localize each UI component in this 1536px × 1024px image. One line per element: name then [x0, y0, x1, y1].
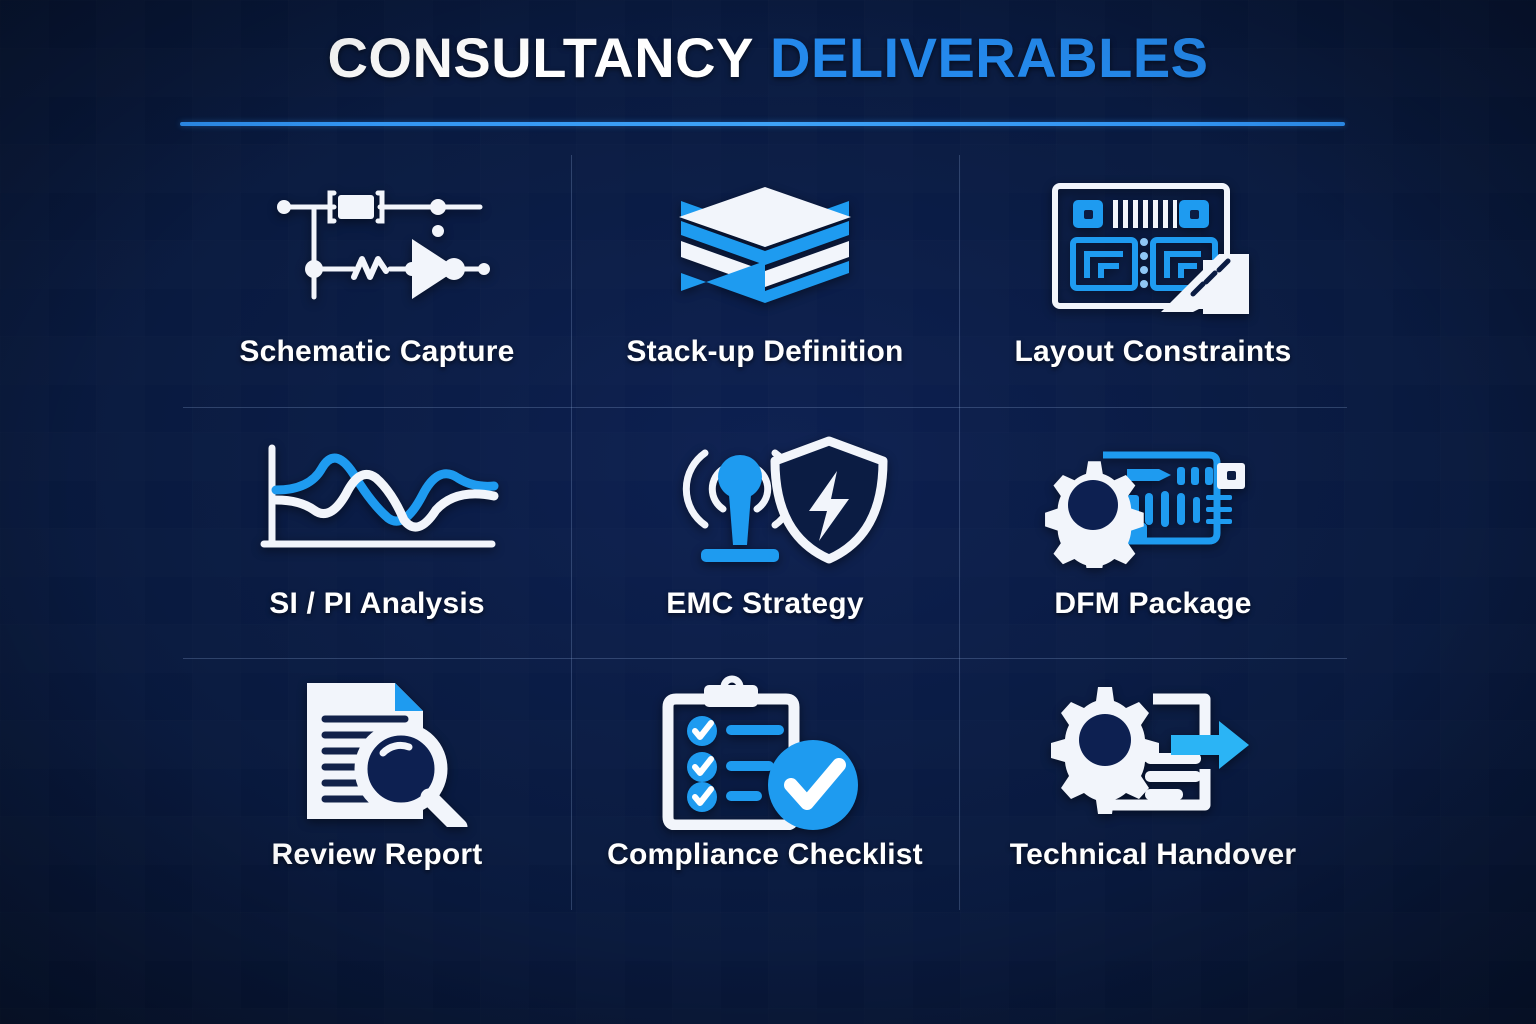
deliverable-label: Schematic Capture	[239, 335, 514, 369]
title-underline	[180, 122, 1345, 126]
waveform-chart-icon	[252, 421, 502, 581]
page-title: CONSULTANCY DELIVERABLES	[0, 30, 1536, 86]
gear-document-arrow-icon	[1041, 672, 1266, 832]
schematic-circuit-icon	[262, 169, 492, 329]
deliverables-grid: Schematic Capture Stack-up Definition	[183, 155, 1347, 910]
deliverable-label: Review Report	[272, 838, 483, 872]
title-white-part: CONSULTANCY	[327, 26, 754, 89]
deliverable-cell-schematic-capture[interactable]: Schematic Capture	[183, 155, 571, 407]
deliverable-cell-stackup-definition[interactable]: Stack-up Definition	[571, 155, 959, 407]
deliverable-cell-dfm-package[interactable]: DFM Package	[959, 407, 1347, 659]
deliverable-cell-emc-strategy[interactable]: EMC Strategy	[571, 407, 959, 659]
deliverable-cell-compliance-checklist[interactable]: Compliance Checklist	[571, 658, 959, 910]
document-magnifier-icon	[277, 672, 477, 832]
deliverable-label: SI / PI Analysis	[269, 587, 485, 621]
header: CONSULTANCY DELIVERABLES	[0, 30, 1536, 86]
deliverable-cell-layout-constraints[interactable]: Layout Constraints	[959, 155, 1347, 407]
deliverable-label: Compliance Checklist	[607, 838, 923, 872]
layers-stack-icon	[665, 169, 865, 329]
title-blue-part: DELIVERABLES	[770, 26, 1209, 89]
clipboard-check-icon	[658, 672, 873, 832]
deliverable-cell-review-report[interactable]: Review Report	[183, 658, 571, 910]
antenna-shield-icon	[643, 421, 888, 581]
deliverable-label: EMC Strategy	[666, 587, 863, 621]
deliverable-cell-si-pi-analysis[interactable]: SI / PI Analysis	[183, 407, 571, 659]
deliverable-cell-technical-handover[interactable]: Technical Handover	[959, 658, 1347, 910]
deliverable-label: DFM Package	[1054, 587, 1251, 621]
deliverable-label: Layout Constraints	[1015, 335, 1292, 369]
deliverable-label: Stack-up Definition	[626, 335, 903, 369]
deliverable-label: Technical Handover	[1010, 838, 1296, 872]
pcb-ruler-icon	[1043, 169, 1263, 329]
gear-pcb-icon	[1031, 421, 1276, 581]
